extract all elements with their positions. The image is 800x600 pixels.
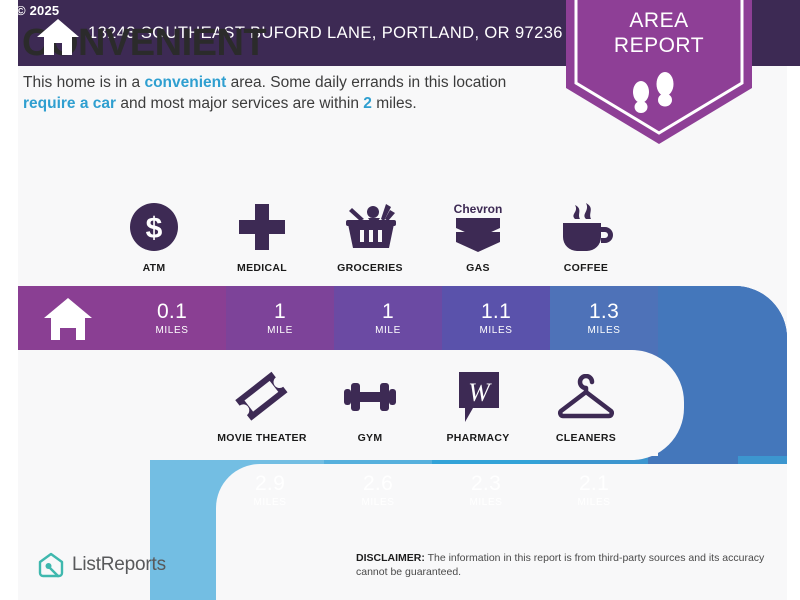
house-icon	[36, 17, 80, 57]
distance-unit: MILES	[479, 325, 512, 336]
distance-unit: MILES	[587, 325, 620, 336]
disclaimer-label: DISCLAIMER:	[356, 552, 425, 564]
amenity-cleaners: CLEANERS	[532, 370, 640, 444]
badge-line-2: REPORT	[566, 33, 752, 58]
distance-value: 2.1	[579, 473, 609, 495]
distance-unit: MILES	[577, 497, 610, 508]
badge-line-1: AREA	[566, 8, 752, 33]
distance-value: 1	[382, 301, 394, 323]
distance-cell-gym: 2.6 MILES	[324, 456, 432, 524]
distance-value: 0.1	[157, 301, 187, 323]
copyright-label: © 2025	[16, 3, 59, 18]
distance-value: 2.3	[471, 473, 501, 495]
disclaimer: DISCLAIMER: The information in this repo…	[356, 551, 776, 579]
distance-cell-gas: 1.1 MILES	[442, 286, 550, 350]
amenity-pharmacy: W PHARMACY	[424, 370, 532, 444]
dumbbell-icon	[341, 370, 399, 424]
distance-cell-groceries: 1 MILE	[334, 286, 442, 350]
distance-unit: MILES	[469, 497, 502, 508]
distance-unit: MILE	[267, 325, 293, 336]
movie-ticket-icon	[235, 370, 289, 424]
amenity-label: CLEANERS	[556, 432, 616, 444]
amenity-label: PHARMACY	[446, 432, 509, 444]
distance-unit: MILE	[375, 325, 401, 336]
badge-title: AREA REPORT	[566, 8, 752, 58]
distance-value: 1	[274, 301, 286, 323]
amenity-row-2: MOVIE THEATER GYM	[208, 370, 640, 444]
distance-value: 1.1	[481, 301, 511, 323]
distance-value: 2.6	[363, 473, 393, 495]
walgreens-w-icon: W	[453, 370, 503, 424]
distance-cell-movie-theater: 2.9 MILES	[216, 456, 324, 524]
distance-cell-cleaners: 2.1 MILES	[540, 456, 648, 524]
distance-cell-pharmacy: 2.3 MILES	[432, 456, 540, 524]
listreports-brand-name: ListReports	[72, 554, 166, 576]
listreports-logo: ListReports	[38, 552, 166, 578]
distance-value: 1.3	[589, 301, 619, 323]
amenity-label: MOVIE THEATER	[217, 432, 306, 444]
area-report-infographic: © 2025 13243 SOUTHEAST BUFORD LANE, PORT…	[0, 0, 800, 600]
distance-cell-atm: 0.1 MILES	[118, 286, 226, 350]
hanger-icon	[555, 370, 617, 424]
amenity-movie-theater: MOVIE THEATER	[208, 370, 316, 444]
distance-cell-medical: 1 MILE	[226, 286, 334, 350]
distance-unit: MILES	[155, 325, 188, 336]
amenity-label: GYM	[358, 432, 383, 444]
area-report-badge: AREA REPORT	[566, 0, 752, 144]
amenity-gym: GYM	[316, 370, 424, 444]
distance-unit: MILES	[361, 497, 394, 508]
svg-text:W: W	[468, 378, 492, 407]
distance-cell-coffee: 1.3 MILES	[550, 286, 658, 350]
listreports-logo-icon	[38, 552, 64, 578]
distance-unit: MILES	[253, 497, 286, 508]
distance-value: 2.9	[255, 473, 285, 495]
